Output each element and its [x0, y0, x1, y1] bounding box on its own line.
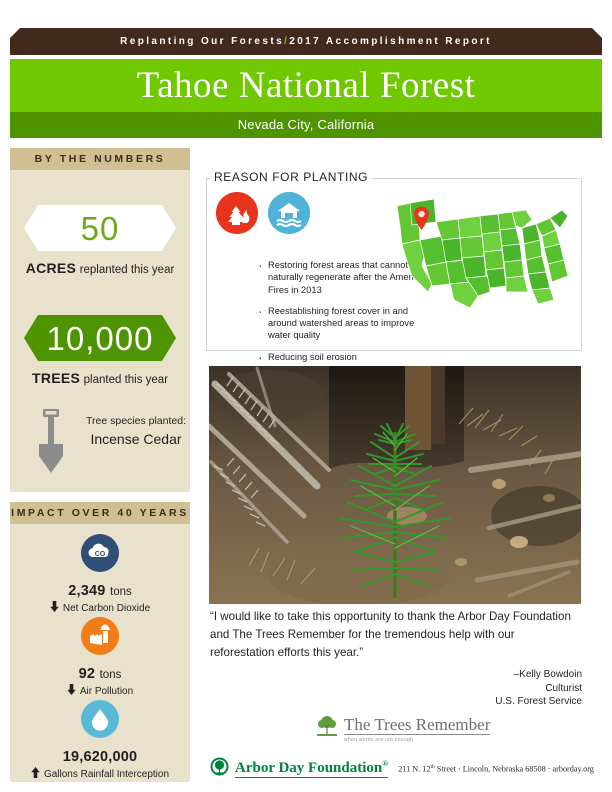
attrib-name: –Kelly Bowdoin: [300, 668, 582, 682]
acres-caption: ACRES replanted this year: [10, 260, 190, 276]
attrib-org: U.S. Forest Service: [300, 695, 582, 709]
factory-smoke-icon: [10, 617, 190, 660]
arrow-up-icon: [31, 767, 40, 781]
co2-label: Net Carbon Dioxide: [63, 603, 150, 614]
page-title: Tahoe National Forest: [10, 59, 602, 112]
wildfire-icon: [216, 192, 258, 234]
eyebrow-left: Replanting Our Forests: [120, 36, 284, 47]
co2-value: 2,349: [68, 583, 105, 599]
by-the-numbers-heading: BY THE NUMBERS: [10, 148, 190, 170]
trees-label-bold: TREES: [32, 370, 80, 386]
address-post: Street · Lincoln, Nebraska 68508 · arbor…: [435, 765, 594, 774]
arbor-day-foundation-name: Arbor Day Foundation®: [235, 760, 388, 778]
reason-for-planting-title: REASON FOR PLANTING: [210, 170, 372, 184]
species-row: Tree species planted: Incense Cedar: [10, 400, 190, 480]
stat-air-pollution: 92 tons Air Pollution: [10, 617, 190, 698]
reason-bullet-3: Reducing soil erosion: [256, 351, 436, 363]
trees-value: 10,000: [47, 322, 154, 355]
svg-text:CO: CO: [95, 551, 106, 558]
impact-heading: IMPACT OVER 40 YEARS: [10, 502, 190, 524]
stat-net-carbon-dioxide: CO 2 2,349 tons Net Carbon Dioxide: [10, 534, 190, 615]
trees-ribbon: 10,000: [10, 315, 190, 361]
us-map: [392, 188, 572, 308]
stat-value-row: 2,349 tons: [10, 582, 190, 600]
by-the-numbers-heading-text: BY THE NUMBERS: [10, 148, 190, 170]
stat-value-row: 92 tons: [10, 665, 190, 683]
co2-unit: tons: [110, 586, 132, 598]
stat-value-row: 19,620,000: [10, 748, 190, 766]
arrow-down-icon: [67, 684, 76, 698]
air-sub: Air Pollution: [10, 684, 190, 698]
location-band: Nevada City, California: [10, 112, 602, 138]
acres-label-bold: ACRES: [26, 260, 77, 276]
rain-value: 19,620,000: [63, 749, 138, 765]
air-value: 92: [79, 666, 96, 682]
trees-remember-tagline: when words are not enough: [344, 737, 490, 743]
arrow-down-icon: [50, 601, 59, 615]
quote-attribution: –Kelly Bowdoin Culturist U.S. Forest Ser…: [300, 668, 582, 709]
trees-caption: TREES planted this year: [10, 370, 190, 386]
species-label: Tree species planted:: [80, 414, 192, 428]
trees-remember-text: The Trees Remember when words are not en…: [344, 715, 490, 743]
trees-label-rest: planted this year: [84, 374, 168, 386]
water-drop-icon: [10, 700, 190, 743]
adf-registered-mark: ®: [382, 759, 388, 768]
testimonial-quote: “I would like to take this opportunity t…: [210, 608, 582, 662]
eyebrow-right: 2017 Accomplishment Report: [289, 36, 492, 47]
rain-sub: Gallons Rainfall Interception: [10, 767, 190, 781]
svg-text:2: 2: [108, 554, 111, 560]
co2-sub: Net Carbon Dioxide: [10, 601, 190, 615]
trees-remember-name: The Trees Remember: [344, 715, 490, 735]
impact-heading-text: IMPACT OVER 40 YEARS: [10, 502, 190, 524]
report-eyebrow-bar: Replanting Our Forests/2017 Accomplishme…: [10, 28, 602, 55]
report-eyebrow-text: Replanting Our Forests/2017 Accomplishme…: [10, 28, 602, 55]
arbor-day-tree-icon: [210, 757, 229, 781]
attrib-title: Culturist: [300, 682, 582, 696]
acres-ribbon: 50: [10, 205, 190, 251]
acres-value: 50: [81, 212, 120, 245]
shovel-icon: [34, 406, 68, 481]
arbor-day-address: 211 N. 12th Street · Lincoln, Nebraska 6…: [398, 764, 594, 774]
rain-label: Gallons Rainfall Interception: [44, 769, 169, 780]
co2-cloud-icon: CO 2: [10, 534, 190, 577]
species-text: Tree species planted: Incense Cedar: [80, 414, 192, 449]
acres-label-rest: replanted this year: [80, 264, 175, 276]
trees-remember-logo: The Trees Remember when words are not en…: [315, 714, 490, 743]
tree-mark-icon: [315, 714, 339, 743]
title-band: Tahoe National Forest: [10, 59, 602, 112]
reason-icons: [216, 192, 310, 234]
location-subtitle: Nevada City, California: [10, 112, 602, 138]
conifer-seedling-photo: [209, 366, 581, 604]
flood-house-icon: [268, 192, 310, 234]
adf-name-text: Arbor Day Foundation: [235, 760, 382, 776]
air-unit: tons: [100, 669, 122, 681]
arbor-day-foundation-logo: Arbor Day Foundation® 211 N. 12th Street…: [210, 757, 594, 781]
species-value: Incense Cedar: [80, 430, 192, 449]
stat-rainfall-interception: 19,620,000 Gallons Rainfall Interception: [10, 700, 190, 781]
address-pre: 211 N. 12: [398, 765, 430, 774]
reason-bullet-2: Reestablishing forest cover in and aroun…: [256, 305, 436, 342]
infographic-page: Replanting Our Forests/2017 Accomplishme…: [0, 0, 612, 792]
air-label: Air Pollution: [80, 686, 133, 697]
